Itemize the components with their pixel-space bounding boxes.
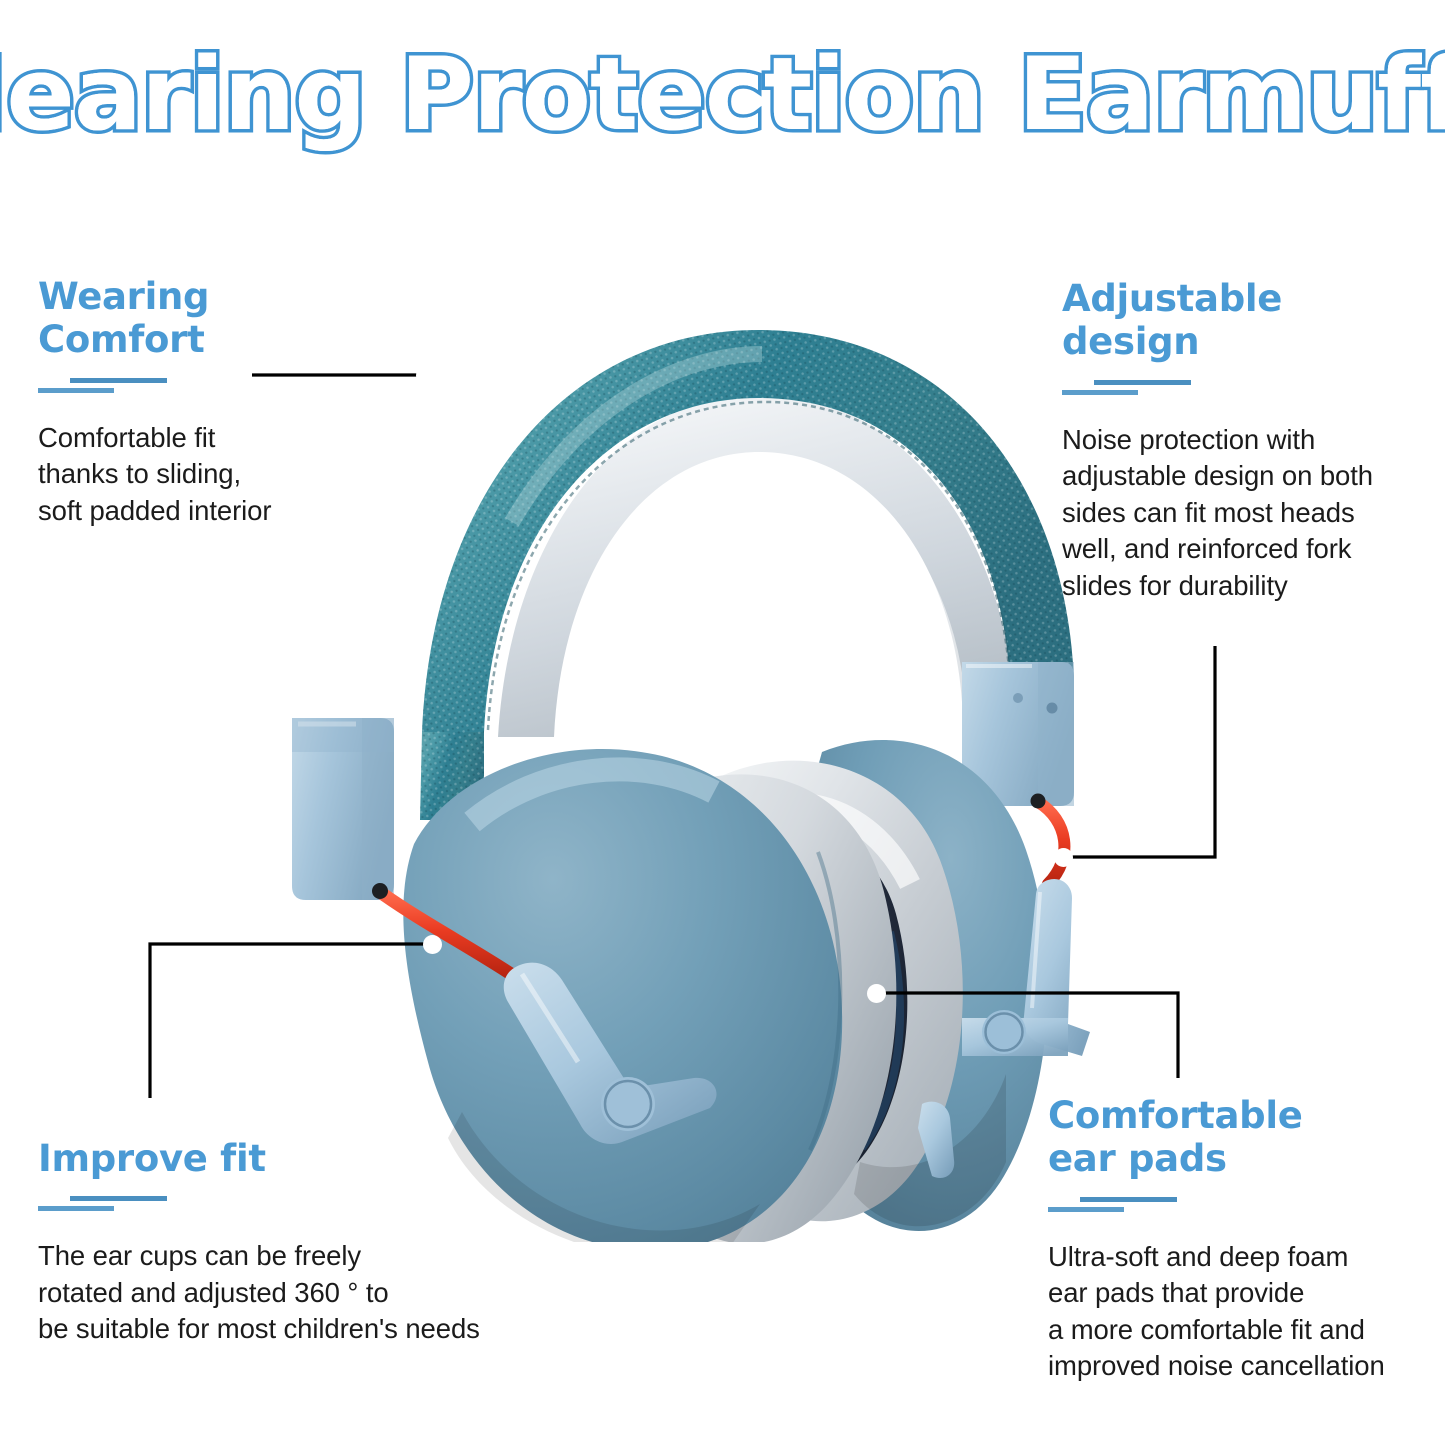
feature-body-comfortable-ear-pads: Ultra-soft and deep foam ear pads that p… (1048, 1239, 1438, 1385)
callout-dot-comfortable-pads (867, 984, 886, 1003)
product-image-earmuffs (262, 232, 1092, 1242)
divider-bar-top (70, 1196, 167, 1201)
divider-adjustable-design (1062, 380, 1437, 400)
divider-bar-bottom (38, 388, 114, 393)
divider-bar-top (1094, 380, 1191, 385)
callout-dot-wearing-comfort (416, 366, 435, 385)
left-ear-cup (403, 749, 896, 1242)
callout-dot-improve-fit (423, 935, 442, 954)
page-title-fill: Hearing Protection Earmuffs (0, 44, 1445, 145)
infographic-page: Hearing Protection Earmuffs Hearing Prot… (0, 0, 1445, 1445)
divider-bar-bottom (38, 1206, 114, 1211)
left-fork-slider (292, 718, 394, 900)
divider-bar-top (70, 378, 167, 383)
feature-heading-adjustable-design: Adjustable design (1062, 277, 1437, 364)
feature-heading-comfortable-ear-pads: Comfortable ear pads (1048, 1094, 1438, 1181)
callout-dot-adjustable-design (1054, 848, 1073, 867)
feature-block-adjustable-design: Adjustable design Noise protection with … (1062, 277, 1437, 604)
page-title: Hearing Protection Earmuffs Hearing Prot… (0, 34, 1445, 154)
feature-body-adjustable-design: Noise protection with adjustable design … (1062, 422, 1437, 605)
feature-body-improve-fit: The ear cups can be freely rotated and a… (38, 1238, 578, 1348)
divider-bar-top (1080, 1197, 1177, 1202)
feature-block-comfortable-ear-pads: Comfortable ear pads Ultra-soft and deep… (1048, 1094, 1438, 1385)
divider-comfortable-ear-pads (1048, 1197, 1438, 1217)
